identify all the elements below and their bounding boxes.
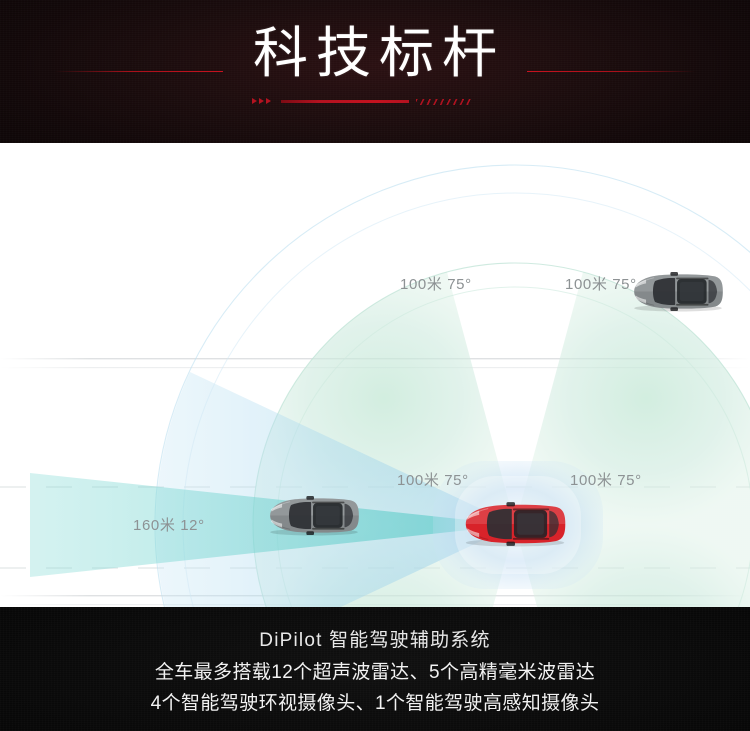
caption-title: DiPilot 智能驾驶辅助系统: [0, 625, 750, 652]
footer-caption: DiPilot 智能驾驶辅助系统 全车最多搭载12个超声波雷达、5个高精毫米波雷…: [0, 607, 750, 731]
label-front-long: 160米 12°: [133, 517, 205, 534]
caption-line-3: 4个智能驾驶环视摄像头、1个智能驾驶高感知摄像头: [0, 688, 750, 715]
caption-line-2: 全车最多搭载12个超声波雷达、5个高精毫米波雷达: [0, 657, 750, 684]
label-corner-upper-right: 100米 75°: [565, 276, 637, 293]
label-corner-lower-left: 100米 75°: [397, 472, 469, 489]
header-underline-decoration: [252, 97, 502, 109]
hatch-marks-icon: [416, 99, 472, 105]
radar-diagram-svg: 160米 12° 120米 50° 100米 75° 100米 75° 100米…: [0, 143, 750, 607]
radar-coverage-diagram: 160米 12° 120米 50° 100米 75° 100米 75° 100米…: [0, 143, 750, 607]
label-corner-upper-left: 100米 75°: [400, 276, 472, 293]
page-root: 科技标杆: [0, 0, 750, 731]
triangle-arrows-icon: [252, 98, 271, 104]
label-corner-lower-right: 100米 75°: [570, 472, 642, 489]
underline-bar: [281, 100, 409, 103]
header-banner: 科技标杆: [0, 0, 750, 143]
page-title: 科技标杆: [0, 22, 750, 84]
